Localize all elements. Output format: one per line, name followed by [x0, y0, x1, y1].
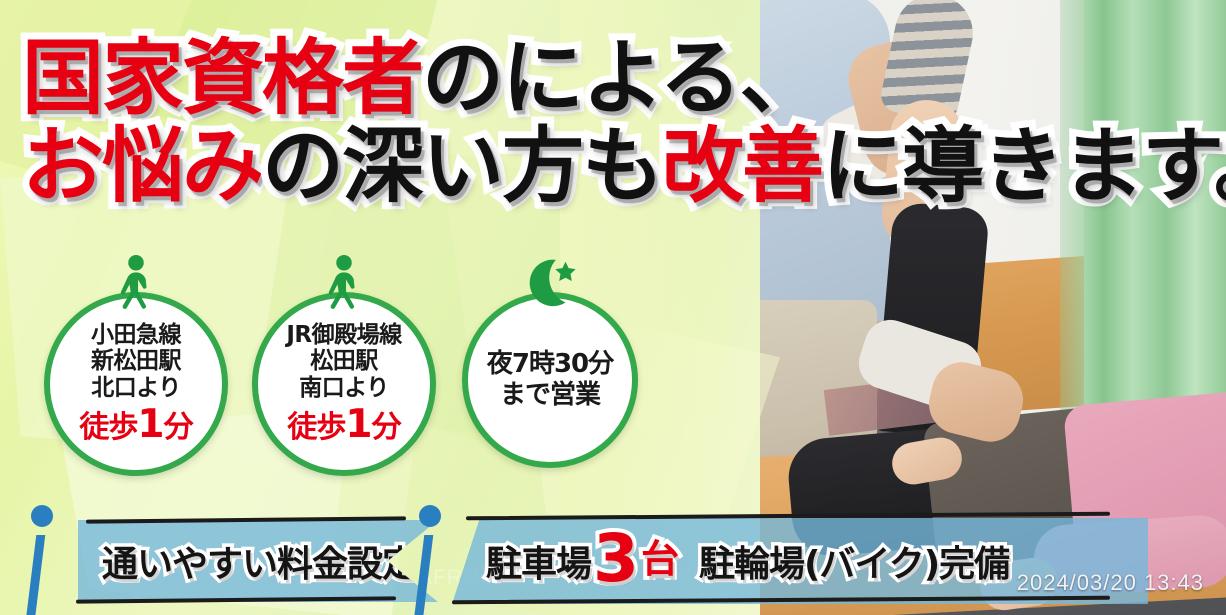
moon-star-icon	[519, 254, 581, 316]
badge-line-1: JR御殿場線	[286, 322, 401, 349]
parking-count: 3	[593, 529, 637, 588]
badge-walk-prefix: 徒歩	[79, 410, 137, 445]
badge-line-2: まで営業	[500, 380, 600, 411]
accent-dot-icon	[31, 505, 53, 527]
badge-walk-prefix: 徒歩	[287, 410, 345, 445]
exclamation-accent-right	[410, 505, 450, 615]
badge-walk-suffix: 分	[164, 410, 193, 445]
parking-unit: 台	[641, 542, 677, 576]
pedestrian-icon	[105, 254, 167, 316]
badge-line-1: 夜7時30分	[487, 349, 613, 380]
badge-walk-minutes: 1	[345, 402, 371, 447]
access-badge-jr[interactable]: JR御殿場線 松田駅 南口より 徒歩1分	[252, 292, 436, 476]
pedestrian-icon	[313, 254, 375, 316]
access-badge-hours[interactable]: 夜7時30分 まで営業	[462, 292, 638, 468]
access-badge-odakyu[interactable]: 小田急線 新松田駅 北口より 徒歩1分	[44, 292, 228, 476]
photo-timestamp: 2024/03/20 13:43	[1017, 570, 1204, 596]
parking-label: 駐車場	[486, 535, 591, 587]
badge-walk-suffix: 分	[372, 410, 401, 445]
exclamation-accent-left	[22, 505, 62, 615]
bike-parking-label: 駐輪場(バイク)完備	[699, 535, 1009, 587]
badge-line-1: 小田急線	[91, 322, 181, 349]
ribbon-pricing[interactable]: 通いやすい料金設定	[78, 520, 438, 602]
accent-bar-icon	[414, 535, 434, 615]
badge-line-3: 南口より	[299, 375, 389, 402]
banner-stage: 国家資格者のによる、 お悩みの深い方も改善に導きます。 小田急線 新松田駅 北口…	[0, 0, 1226, 615]
badge-highlight: 徒歩1分	[287, 404, 400, 447]
accent-bar-icon	[26, 535, 46, 615]
ribbon-pricing-label: 通いやすい料金設定	[102, 535, 417, 587]
badge-highlight: 徒歩1分	[79, 404, 192, 447]
badge-walk-minutes: 1	[137, 402, 163, 447]
badge-line-2: 新松田駅	[91, 348, 181, 375]
badge-line-2: 松田駅	[310, 348, 378, 375]
badge-line-3: 北口より	[91, 375, 181, 402]
accent-dot-icon	[419, 505, 441, 527]
